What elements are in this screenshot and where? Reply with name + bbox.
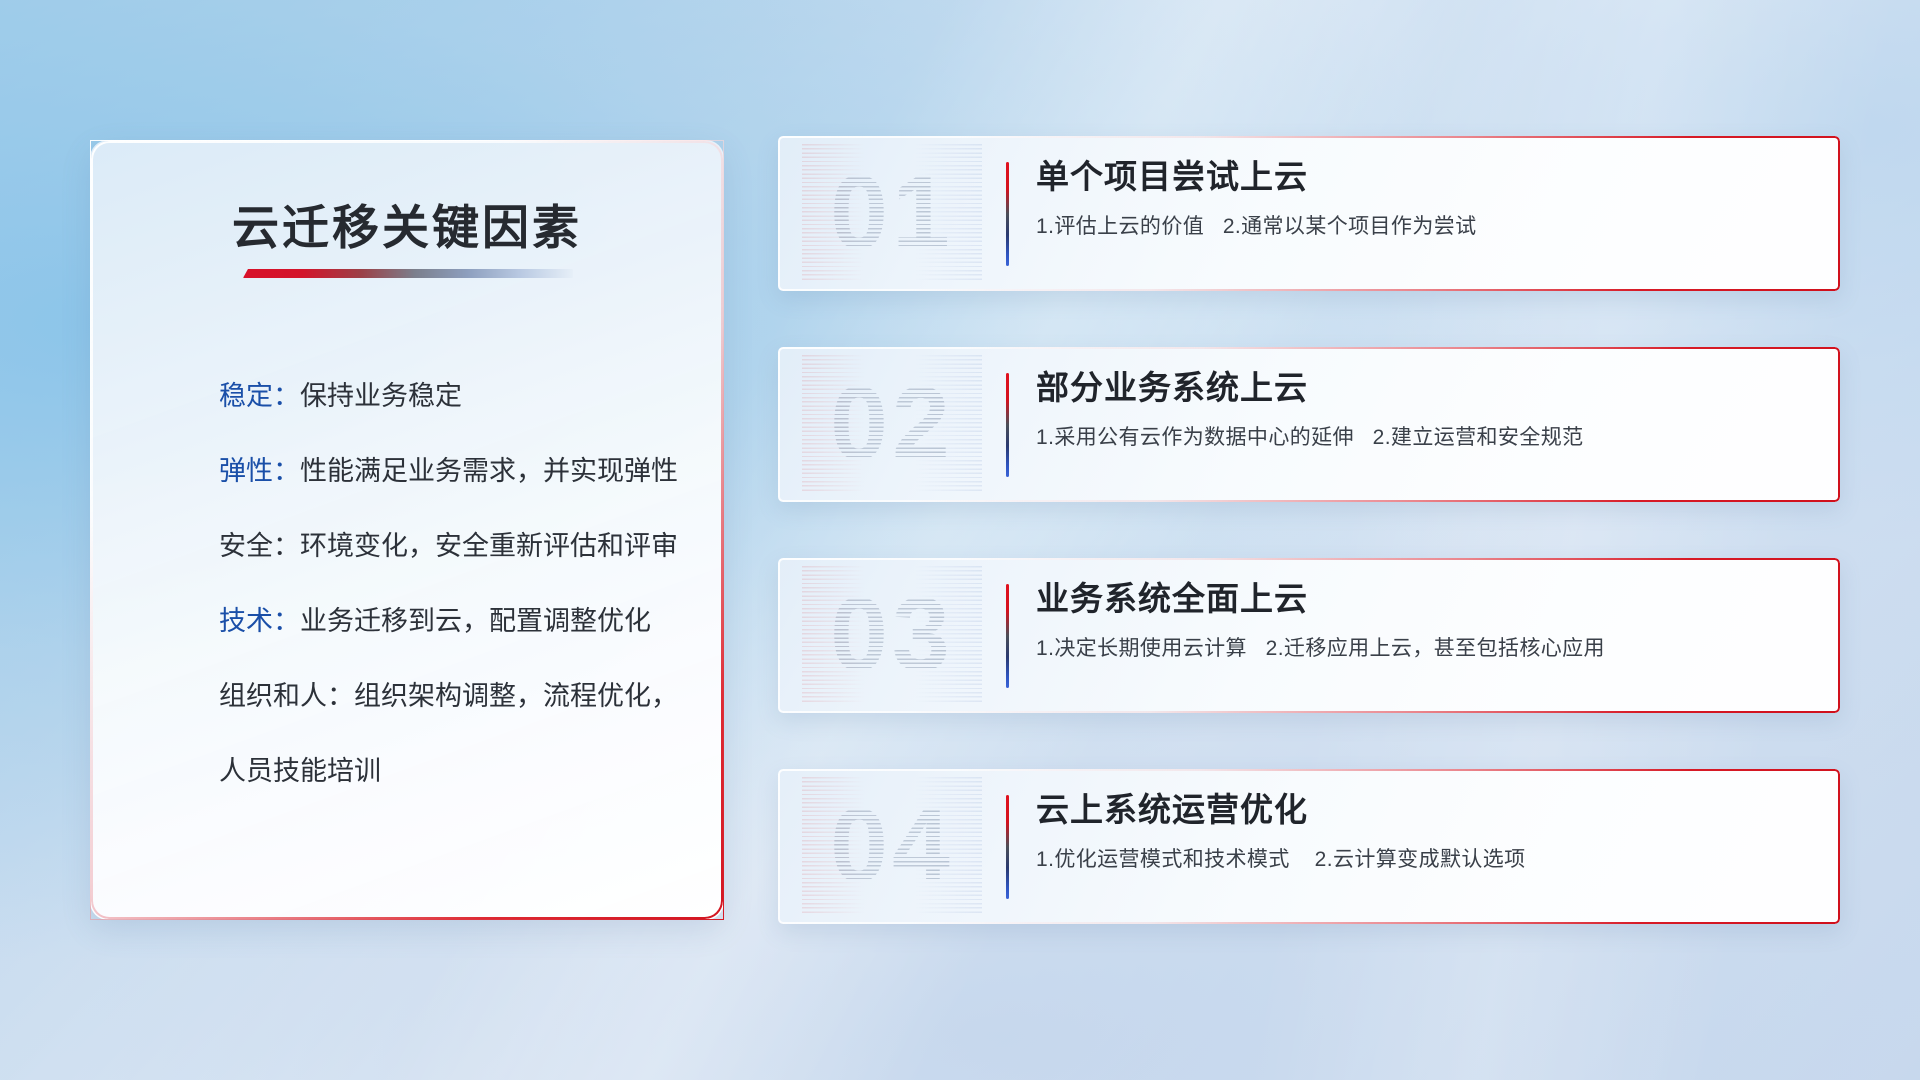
title-underline-rule bbox=[243, 269, 573, 278]
step-number-04: 04 bbox=[802, 777, 982, 915]
factor-text: 保持业务稳定 bbox=[300, 381, 462, 411]
step-text-block: 单个项目尝试上云 1.评估上云的价值 2.通常以某个项目作为尝试 bbox=[1036, 154, 1814, 241]
step-number-01: 01 bbox=[802, 144, 982, 282]
factor-label: 弹性： bbox=[219, 456, 300, 486]
step-accent-bar bbox=[1006, 162, 1009, 266]
step-text-block: 业务系统全面上云 1.决定长期使用云计算 2.迁移应用上云，甚至包括核心应用 bbox=[1036, 576, 1814, 663]
step-description: 1.采用公有云作为数据中心的延伸 2.建立运营和安全规范 bbox=[1036, 424, 1814, 452]
factor-text: 环境变化，安全重新评估和评审 bbox=[300, 531, 678, 561]
step-description: 1.优化运营模式和技术模式 2.云计算变成默认选项 bbox=[1036, 846, 1814, 874]
step-description: 1.评估上云的价值 2.通常以某个项目作为尝试 bbox=[1036, 213, 1814, 241]
factor-item-organization-cont: 人员技能培训 bbox=[219, 734, 677, 809]
key-factors-panel: 云迁移关键因素 稳定：保持业务稳定 弹性：性能满足业务需求，并实现弹性 安全：环… bbox=[90, 140, 724, 920]
step-card-04[interactable]: 04 云上系统运营优化 1.优化运营模式和技术模式 2.云计算变成默认选项 bbox=[778, 769, 1840, 924]
factor-item-elasticity: 弹性：性能满足业务需求，并实现弹性 bbox=[219, 434, 677, 509]
factor-item-organization: 组织和人：组织架构调整，流程优化， bbox=[219, 659, 677, 734]
factor-item-stability: 稳定：保持业务稳定 bbox=[219, 359, 677, 434]
factor-label: 安全： bbox=[219, 531, 300, 561]
step-accent-bar bbox=[1006, 795, 1009, 899]
step-card-01[interactable]: 01 单个项目尝试上云 1.评估上云的价值 2.通常以某个项目作为尝试 bbox=[778, 136, 1840, 291]
step-number-03: 03 bbox=[802, 566, 982, 704]
factor-list: 稳定：保持业务稳定 弹性：性能满足业务需求，并实现弹性 安全：环境变化，安全重新… bbox=[219, 359, 677, 809]
step-accent-bar bbox=[1006, 584, 1009, 688]
factor-text: 业务迁移到云，配置调整优化 bbox=[300, 606, 651, 636]
step-title: 部分业务系统上云 bbox=[1036, 365, 1814, 411]
step-text-block: 云上系统运营优化 1.优化运营模式和技术模式 2.云计算变成默认选项 bbox=[1036, 787, 1814, 874]
step-description: 1.决定长期使用云计算 2.迁移应用上云，甚至包括核心应用 bbox=[1036, 635, 1814, 663]
slide-canvas: 云迁移关键因素 稳定：保持业务稳定 弹性：性能满足业务需求，并实现弹性 安全：环… bbox=[0, 0, 1920, 1080]
step-text-block: 部分业务系统上云 1.采用公有云作为数据中心的延伸 2.建立运营和安全规范 bbox=[1036, 365, 1814, 452]
factor-item-technology: 技术：业务迁移到云，配置调整优化 bbox=[219, 584, 677, 659]
step-number-02: 02 bbox=[802, 355, 982, 493]
step-title: 云上系统运营优化 bbox=[1036, 787, 1814, 833]
step-card-03[interactable]: 03 业务系统全面上云 1.决定长期使用云计算 2.迁移应用上云，甚至包括核心应… bbox=[778, 558, 1840, 713]
factor-item-security: 安全：环境变化，安全重新评估和评审 bbox=[219, 509, 677, 584]
step-accent-bar bbox=[1006, 373, 1009, 477]
factor-text: 人员技能培训 bbox=[219, 756, 381, 786]
step-card-02[interactable]: 02 部分业务系统上云 1.采用公有云作为数据中心的延伸 2.建立运营和安全规范 bbox=[778, 347, 1840, 502]
factor-label: 稳定： bbox=[219, 381, 300, 411]
factor-label: 技术： bbox=[219, 606, 300, 636]
step-title: 单个项目尝试上云 bbox=[1036, 154, 1814, 200]
factor-text: 组织架构调整，流程优化， bbox=[354, 681, 678, 711]
factor-text: 性能满足业务需求，并实现弹性 bbox=[300, 456, 678, 486]
migration-steps-list: 01 单个项目尝试上云 1.评估上云的价值 2.通常以某个项目作为尝试 02 部… bbox=[778, 136, 1840, 980]
page-title: 云迁移关键因素 bbox=[91, 189, 723, 258]
factor-label: 组织和人： bbox=[219, 681, 354, 711]
step-title: 业务系统全面上云 bbox=[1036, 576, 1814, 622]
